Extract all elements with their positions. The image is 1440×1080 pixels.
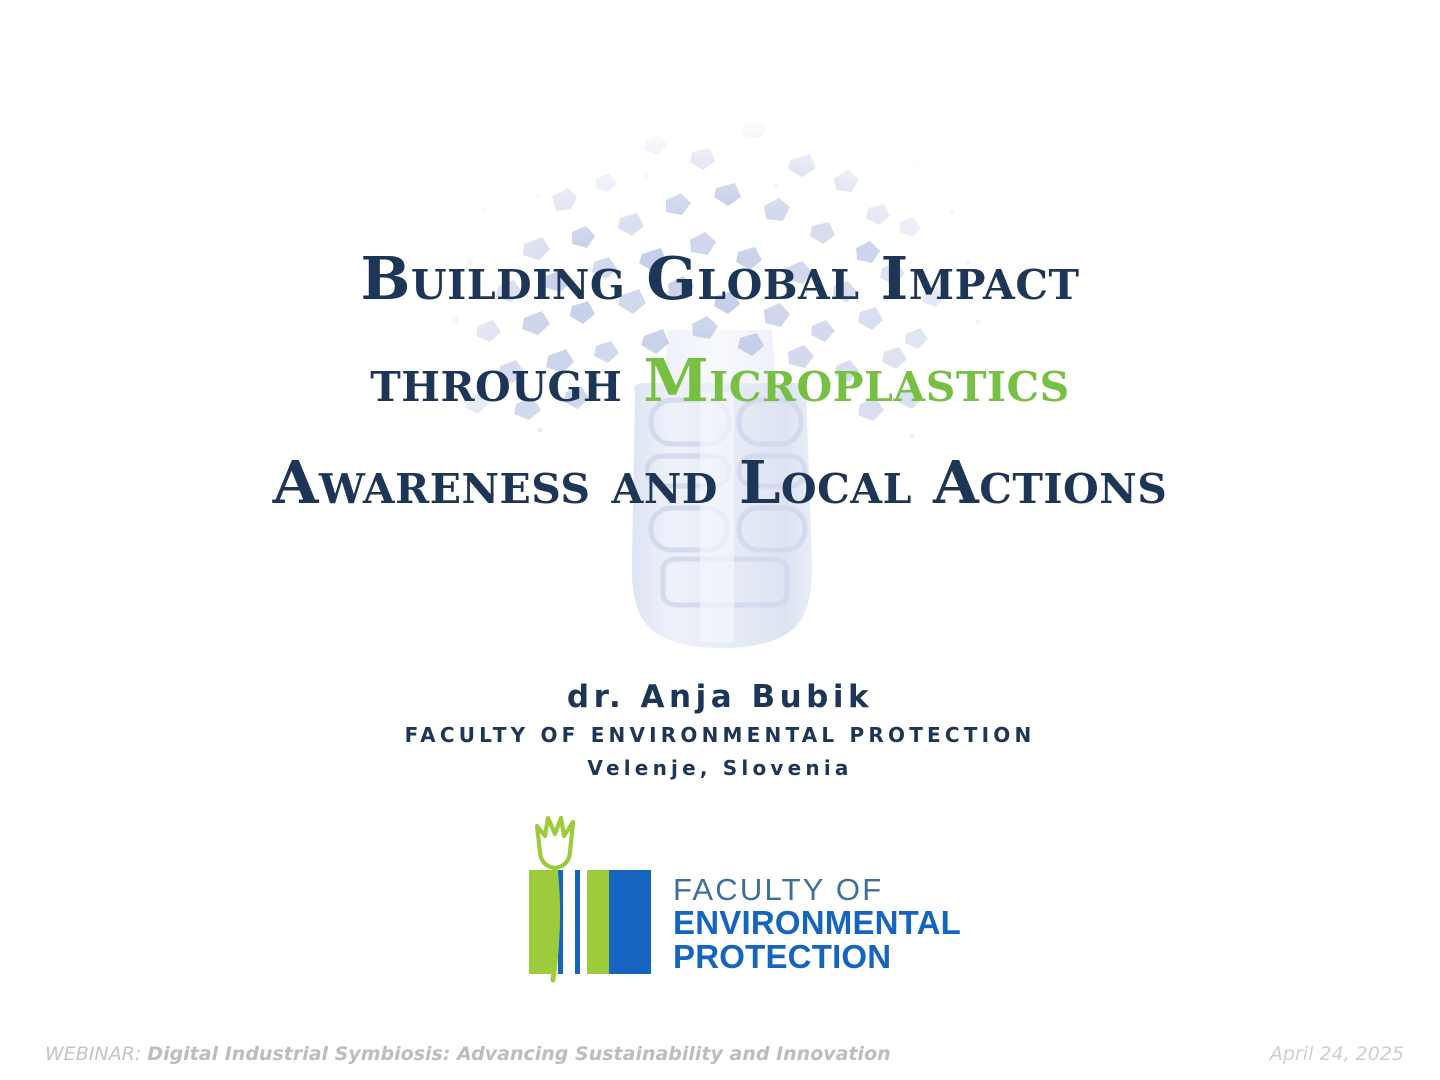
- footer-webinar-title: Digital Industrial Symbiosis: Advancing …: [147, 1043, 890, 1065]
- logo-line-environmental: ENVIRONMENTAL: [673, 904, 961, 941]
- slide-title: Building Global Impact through Microplas…: [0, 228, 1440, 534]
- author-affiliation: FACULTY OF ENVIRONMENTAL PROTECTION: [0, 720, 1440, 750]
- title-line-2: through Microplastics: [0, 330, 1440, 432]
- faculty-of-environmental-protection-logo: FACULTY OF ENVIRONMENTAL PROTECTION: [513, 808, 983, 983]
- logo-line-faculty-of: FACULTY OF: [673, 872, 883, 907]
- author-name: dr. Anja Bubik: [0, 678, 1440, 716]
- footer-webinar: WEBINAR: Digital Industrial Symbiosis: A…: [45, 1040, 891, 1068]
- footer-webinar-label: WEBINAR:: [45, 1043, 141, 1065]
- presentation-slide: Building Global Impact through Microplas…: [0, 0, 1440, 1080]
- footer-date: April 24, 2025: [1270, 1040, 1404, 1068]
- tulip-icon: [537, 818, 573, 868]
- author-block: dr. Anja Bubik FACULTY OF ENVIRONMENTAL …: [0, 678, 1440, 783]
- title-line-2-prefix: through: [370, 346, 643, 415]
- title-highlight-microplastics: Microplastics: [643, 346, 1069, 415]
- author-location: Velenje, Slovenia: [0, 753, 1440, 783]
- logo-line-protection: PROTECTION: [673, 938, 891, 975]
- logo-bars: [529, 870, 651, 974]
- slide-footer: WEBINAR: Digital Industrial Symbiosis: A…: [0, 1040, 1440, 1080]
- title-line-1: Building Global Impact: [0, 228, 1440, 330]
- title-line-3: Awareness and Local Actions: [0, 432, 1440, 534]
